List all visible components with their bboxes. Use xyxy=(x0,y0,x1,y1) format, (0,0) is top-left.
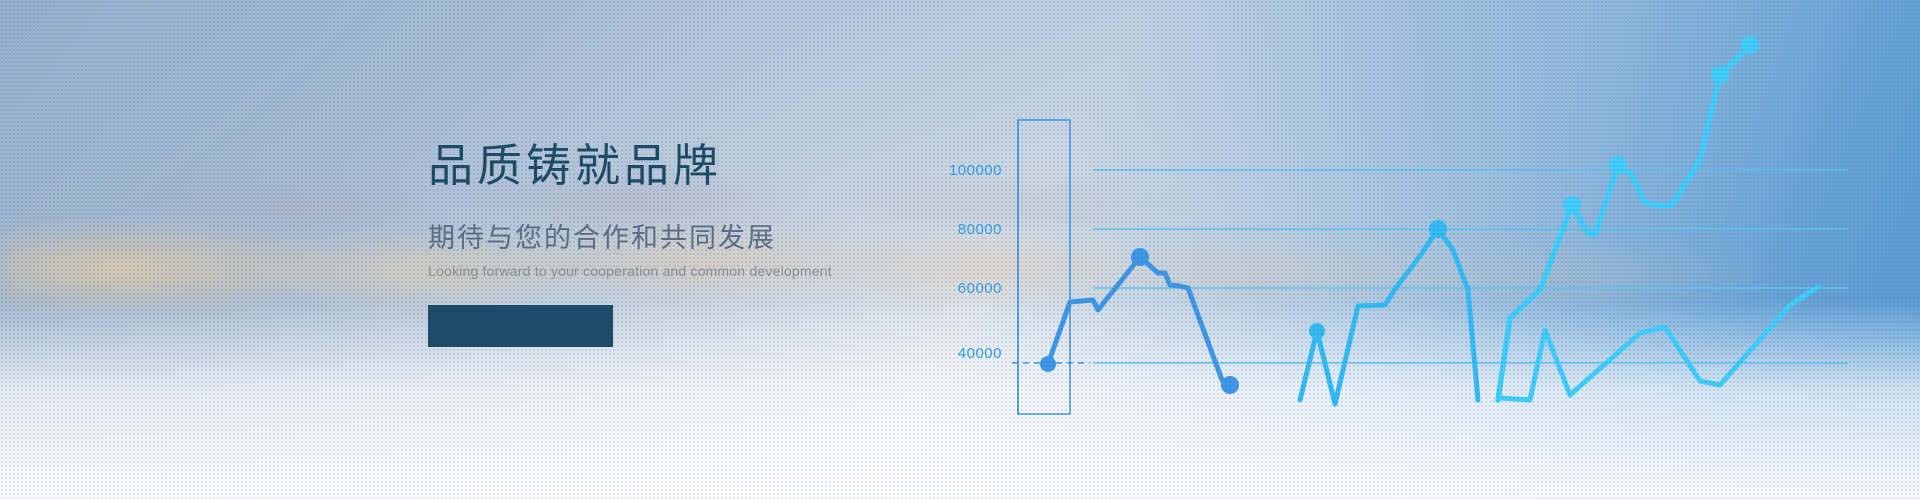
hero-copy: 品质铸就品牌 期待与您的合作和共同发展 Looking forward to y… xyxy=(428,138,948,347)
line-chart: 100000 80000 60000 40000 xyxy=(0,0,1920,500)
page-title: 品质铸就品牌 xyxy=(428,138,948,194)
svg-text:60000: 60000 xyxy=(958,280,1002,297)
chart-gridlines xyxy=(1012,170,1848,363)
hero-subtitle-english: Looking forward to your cooperation and … xyxy=(428,263,948,279)
svg-text:100000: 100000 xyxy=(949,162,1002,179)
svg-text:40000: 40000 xyxy=(958,345,1002,362)
chart-series-4 xyxy=(1500,287,1818,400)
chart-tick-labels: 100000 80000 60000 40000 xyxy=(949,162,1002,362)
hero-subtitle: 期待与您的合作和共同发展 xyxy=(428,216,948,255)
svg-text:80000: 80000 xyxy=(958,221,1002,238)
hero-banner: 100000 80000 60000 40000 xyxy=(0,0,1920,500)
chart-series-2 xyxy=(1300,220,1478,404)
cta-button[interactable] xyxy=(428,305,613,347)
